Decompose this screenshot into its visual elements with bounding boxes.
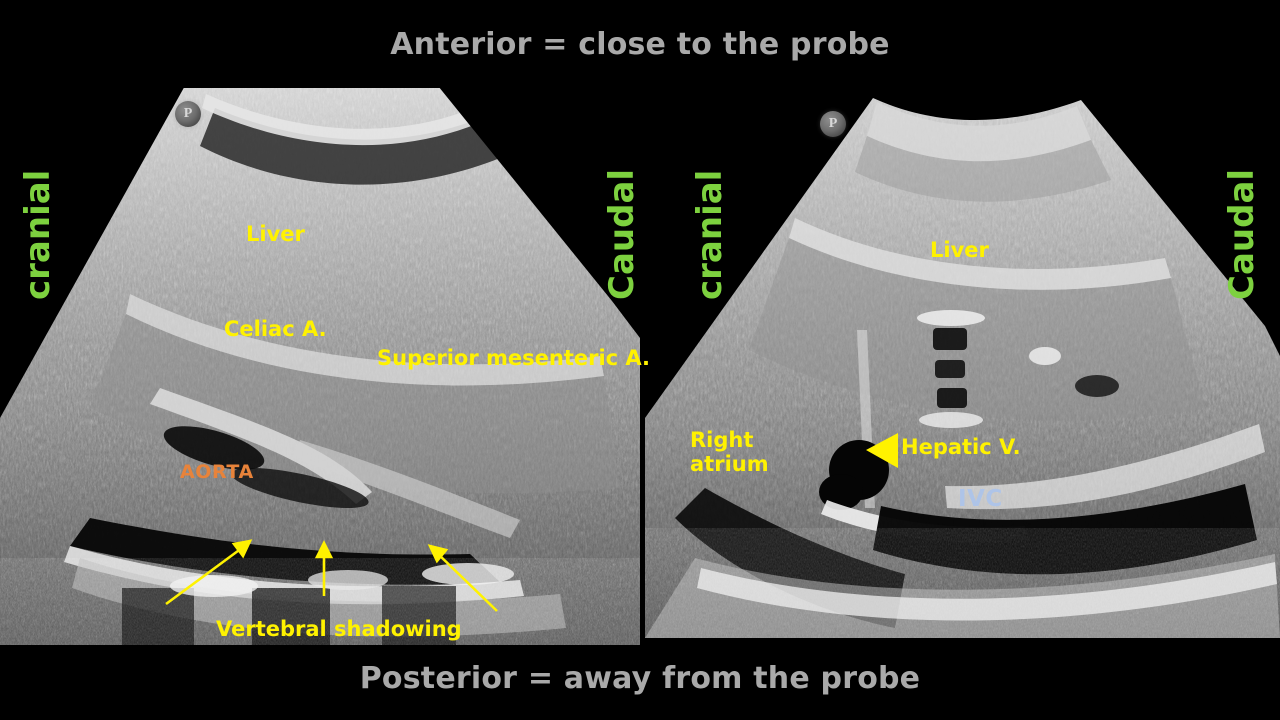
- probe-orientation-marker-right: P: [820, 111, 846, 137]
- orientation-label-caudal-right: Caudal: [1222, 169, 1262, 300]
- orientation-label-caudal-left: Caudal: [602, 169, 642, 300]
- annotation-superior-mesenteric-artery: Superior mesenteric A.: [377, 347, 650, 371]
- annotation-right-atrium: Right atrium: [690, 429, 769, 476]
- anterior-title: Anterior = close to the probe: [0, 27, 1280, 62]
- sector-fan-right: [645, 88, 1280, 638]
- orientation-label-cranial-right: cranial: [690, 170, 730, 300]
- ultrasound-figure: Anterior = close to the probe: [0, 0, 1280, 720]
- annotation-ivc: IVC: [958, 487, 1003, 513]
- annotation-hepatic-vein: Hepatic V.: [901, 436, 1021, 460]
- posterior-title: Posterior = away from the probe: [0, 661, 1280, 696]
- annotation-vertebral-shadowing: Vertebral shadowing: [216, 618, 462, 642]
- annotation-right-atrium-line2: atrium: [690, 453, 769, 477]
- annotation-celiac-artery: Celiac A.: [224, 318, 327, 342]
- annotation-liver-right: Liver: [930, 239, 989, 263]
- annotation-aorta: AORTA: [180, 462, 254, 483]
- orientation-label-cranial-left: cranial: [18, 170, 58, 300]
- annotation-liver-left: Liver: [246, 223, 305, 247]
- ultrasound-image-right: [645, 88, 1280, 638]
- probe-orientation-marker-left: P: [175, 101, 201, 127]
- annotation-right-atrium-line1: Right: [690, 429, 769, 453]
